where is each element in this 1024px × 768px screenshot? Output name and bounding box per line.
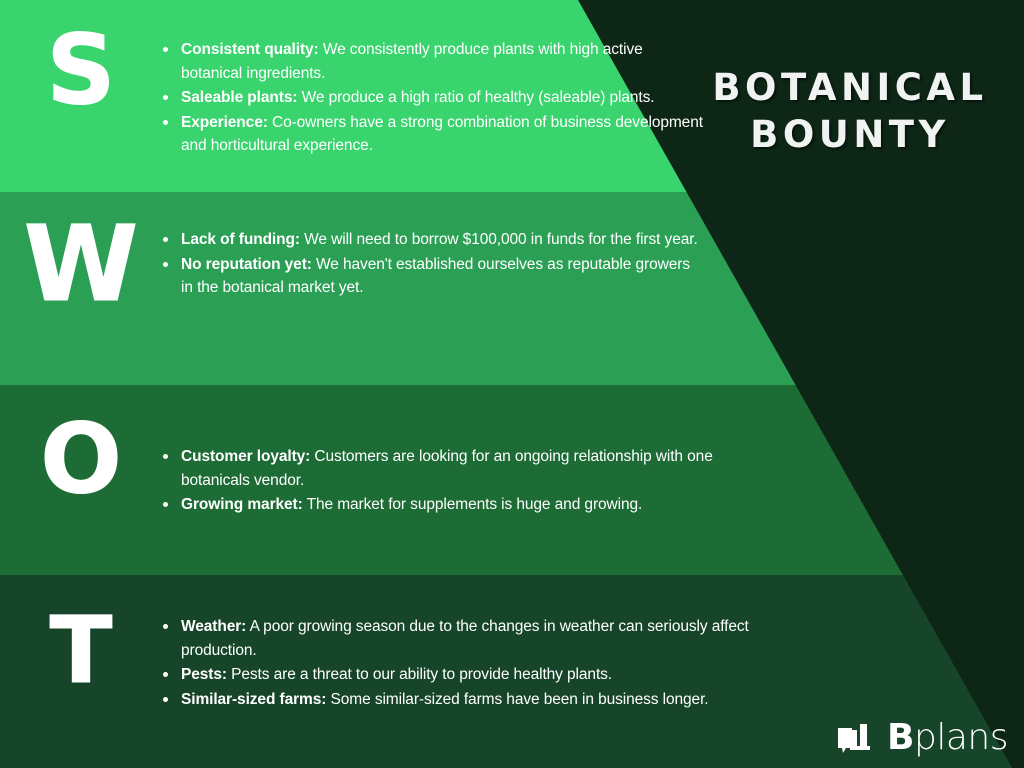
page-title: BOTANICAL BOUNTY	[700, 64, 1000, 158]
bar-chart-speech-bubble-icon	[836, 722, 878, 754]
point-lead: Consistent quality:	[181, 41, 319, 58]
list-item: Experience: Co-owners have a strong comb…	[160, 111, 705, 158]
list-item: Similar-sized farms: Some similar-sized …	[160, 688, 760, 712]
point-lead: Saleable plants:	[181, 89, 297, 106]
list-item: Growing market: The market for supplemen…	[160, 493, 760, 517]
list-item: No reputation yet: We haven't establishe…	[160, 253, 705, 300]
list-item: Customer loyalty: Customers are looking …	[160, 445, 760, 492]
point-body: Pests are a threat to our ability to pro…	[227, 666, 612, 683]
section-letter-t: T	[0, 575, 160, 697]
point-body: We produce a high ratio of healthy (sale…	[297, 89, 654, 106]
point-lead: Experience:	[181, 114, 268, 131]
section-letter-s: S	[0, 0, 160, 118]
list-item: Saleable plants: We produce a high ratio…	[160, 86, 705, 110]
bplans-logo[interactable]: Bplans	[836, 720, 1008, 756]
title-line-2: BOUNTY	[700, 111, 1000, 158]
swot-section-opportunities: O Customer loyalty: Customers are lookin…	[0, 385, 760, 575]
point-lead: No reputation yet:	[181, 256, 312, 273]
point-lead: Pests:	[181, 666, 227, 683]
section-letter-w: W	[0, 192, 160, 316]
weaknesses-list: Lack of funding: We will need to borrow …	[160, 192, 760, 301]
swot-section-weaknesses: W Lack of funding: We will need to borro…	[0, 192, 760, 385]
point-body: A poor growing season due to the changes…	[181, 618, 749, 659]
logo-letter-b: B	[887, 717, 914, 758]
swot-poster: S Consistent quality: We consistently pr…	[0, 0, 1024, 768]
list-item: Consistent quality: We consistently prod…	[160, 38, 705, 85]
logo-text-plans: plans	[914, 717, 1008, 758]
bplans-wordmark: Bplans	[887, 720, 1008, 756]
point-body: Some similar-sized farms have been in bu…	[326, 691, 708, 708]
point-lead: Lack of funding:	[181, 231, 300, 248]
strengths-list: Consistent quality: We consistently prod…	[160, 0, 760, 159]
point-body: The market for supplements is huge and g…	[303, 496, 643, 513]
point-lead: Customer loyalty:	[181, 448, 310, 465]
title-line-1: BOTANICAL	[700, 64, 1000, 111]
swot-section-threats: T Weather: A poor growing season due to …	[0, 575, 760, 768]
swot-section-strengths: S Consistent quality: We consistently pr…	[0, 0, 760, 192]
point-lead: Similar-sized farms:	[181, 691, 326, 708]
point-lead: Weather:	[181, 618, 246, 635]
opportunities-list: Customer loyalty: Customers are looking …	[160, 385, 760, 518]
point-body: We will need to borrow $100,000 in funds…	[300, 231, 698, 248]
point-lead: Growing market:	[181, 496, 303, 513]
list-item: Lack of funding: We will need to borrow …	[160, 228, 705, 252]
list-item: Pests: Pests are a threat to our ability…	[160, 663, 760, 687]
threats-list: Weather: A poor growing season due to th…	[160, 575, 760, 712]
section-letter-o: O	[0, 385, 160, 507]
list-item: Weather: A poor growing season due to th…	[160, 615, 760, 662]
